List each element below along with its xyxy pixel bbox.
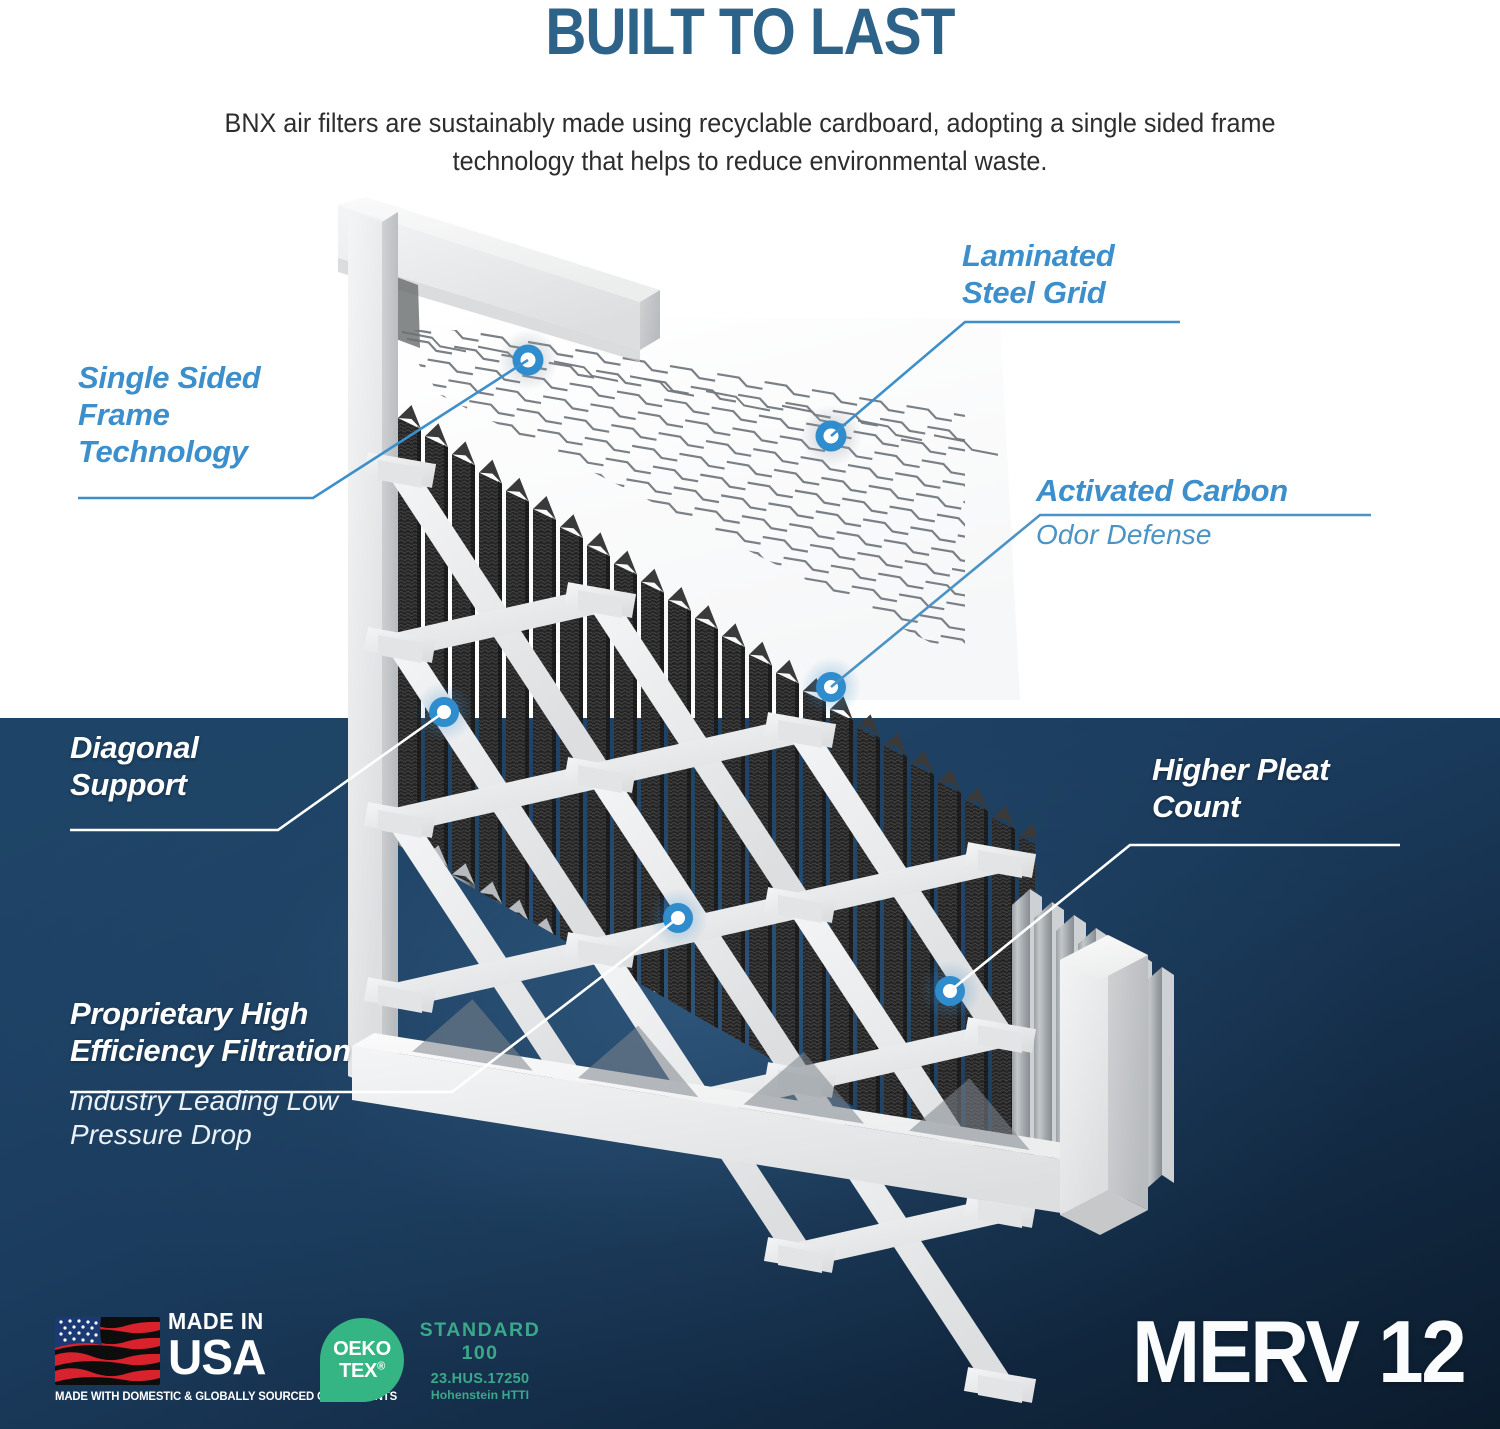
callout-dot-activated-carbon[interactable] [801, 657, 861, 717]
certification-badges-row: MADE IN USA MADE WITH DOMESTIC & GLOBALL… [0, 1300, 1500, 1429]
infographic-stage: BUILT TO LAST BNX air filters are sustai… [0, 0, 1500, 1429]
callout-label-diagonal-support: Diagonal Support [70, 730, 390, 804]
callout-dot-single-sided-frame[interactable] [497, 329, 559, 391]
callout-label-higher-pleat-count: Higher Pleat Count [1152, 752, 1482, 826]
callout-title: Activated Carbon [1036, 473, 1396, 510]
standard-number: 100 [414, 1342, 546, 1365]
callout-title: Diagonal Support [70, 730, 390, 804]
callout-label-activated-carbon: Activated Carbon Odor Defense [1036, 473, 1396, 553]
air-filter-product-illustration [0, 0, 1500, 1429]
callout-dot-higher-pleat-count[interactable] [920, 961, 980, 1021]
callout-title: Single Sided Frame Technology [78, 360, 408, 471]
single-sided-frame-right-post [1060, 935, 1148, 1235]
callout-subtitle: Industry Leading Low Pressure Drop [70, 1084, 490, 1153]
callout-label-laminated-steel-grid: Laminated Steel Grid [962, 238, 1262, 312]
page-subtitle: BNX air filters are sustainably made usi… [209, 104, 1292, 181]
oeko-label: OEKO [333, 1339, 391, 1359]
callout-subtitle: Odor Defense [1036, 518, 1396, 553]
callout-label-proprietary-high-efficiency-filtration: Proprietary High Efficiency Filtration I… [70, 996, 490, 1153]
standard-label: STANDARD [414, 1320, 546, 1342]
usa-flag-icon [55, 1317, 160, 1385]
merv-rating-label: MERV 12 [1132, 1308, 1464, 1396]
certifying-institute: Hohenstein HTTI [414, 1389, 546, 1402]
oeko-tex-badge: OEKO TEX® STANDARD 100 23.HUS.17250 Hohe… [320, 1314, 550, 1412]
callout-title: Laminated Steel Grid [962, 238, 1262, 312]
callout-title: Proprietary High Efficiency Filtration [70, 996, 490, 1070]
callout-dot-proprietary-filtration[interactable] [648, 888, 708, 948]
usa-label: USA [168, 1335, 266, 1382]
oeko-tex-standard-block: STANDARD 100 23.HUS.17250 Hohenstein HTT… [414, 1320, 546, 1403]
certificate-code: 23.HUS.17250 [414, 1372, 546, 1388]
page-title: BUILT TO LAST [105, 0, 1395, 67]
callout-label-single-sided-frame-technology: Single Sided Frame Technology [78, 360, 408, 471]
made-in-usa-badge: MADE IN USA MADE WITH DOMESTIC & GLOBALL… [50, 1312, 340, 1412]
made-in-usa-text: MADE IN USA [168, 1310, 269, 1382]
oeko-tex-logo-text: OEKO TEX® [320, 1318, 404, 1402]
tex-label: TEX® [339, 1361, 385, 1381]
callout-dot-laminated-steel-grid[interactable] [800, 405, 862, 467]
callout-title: Higher Pleat Count [1152, 752, 1482, 826]
callout-dot-diagonal-support[interactable] [414, 682, 474, 742]
made-in-label: MADE IN [168, 1310, 264, 1333]
